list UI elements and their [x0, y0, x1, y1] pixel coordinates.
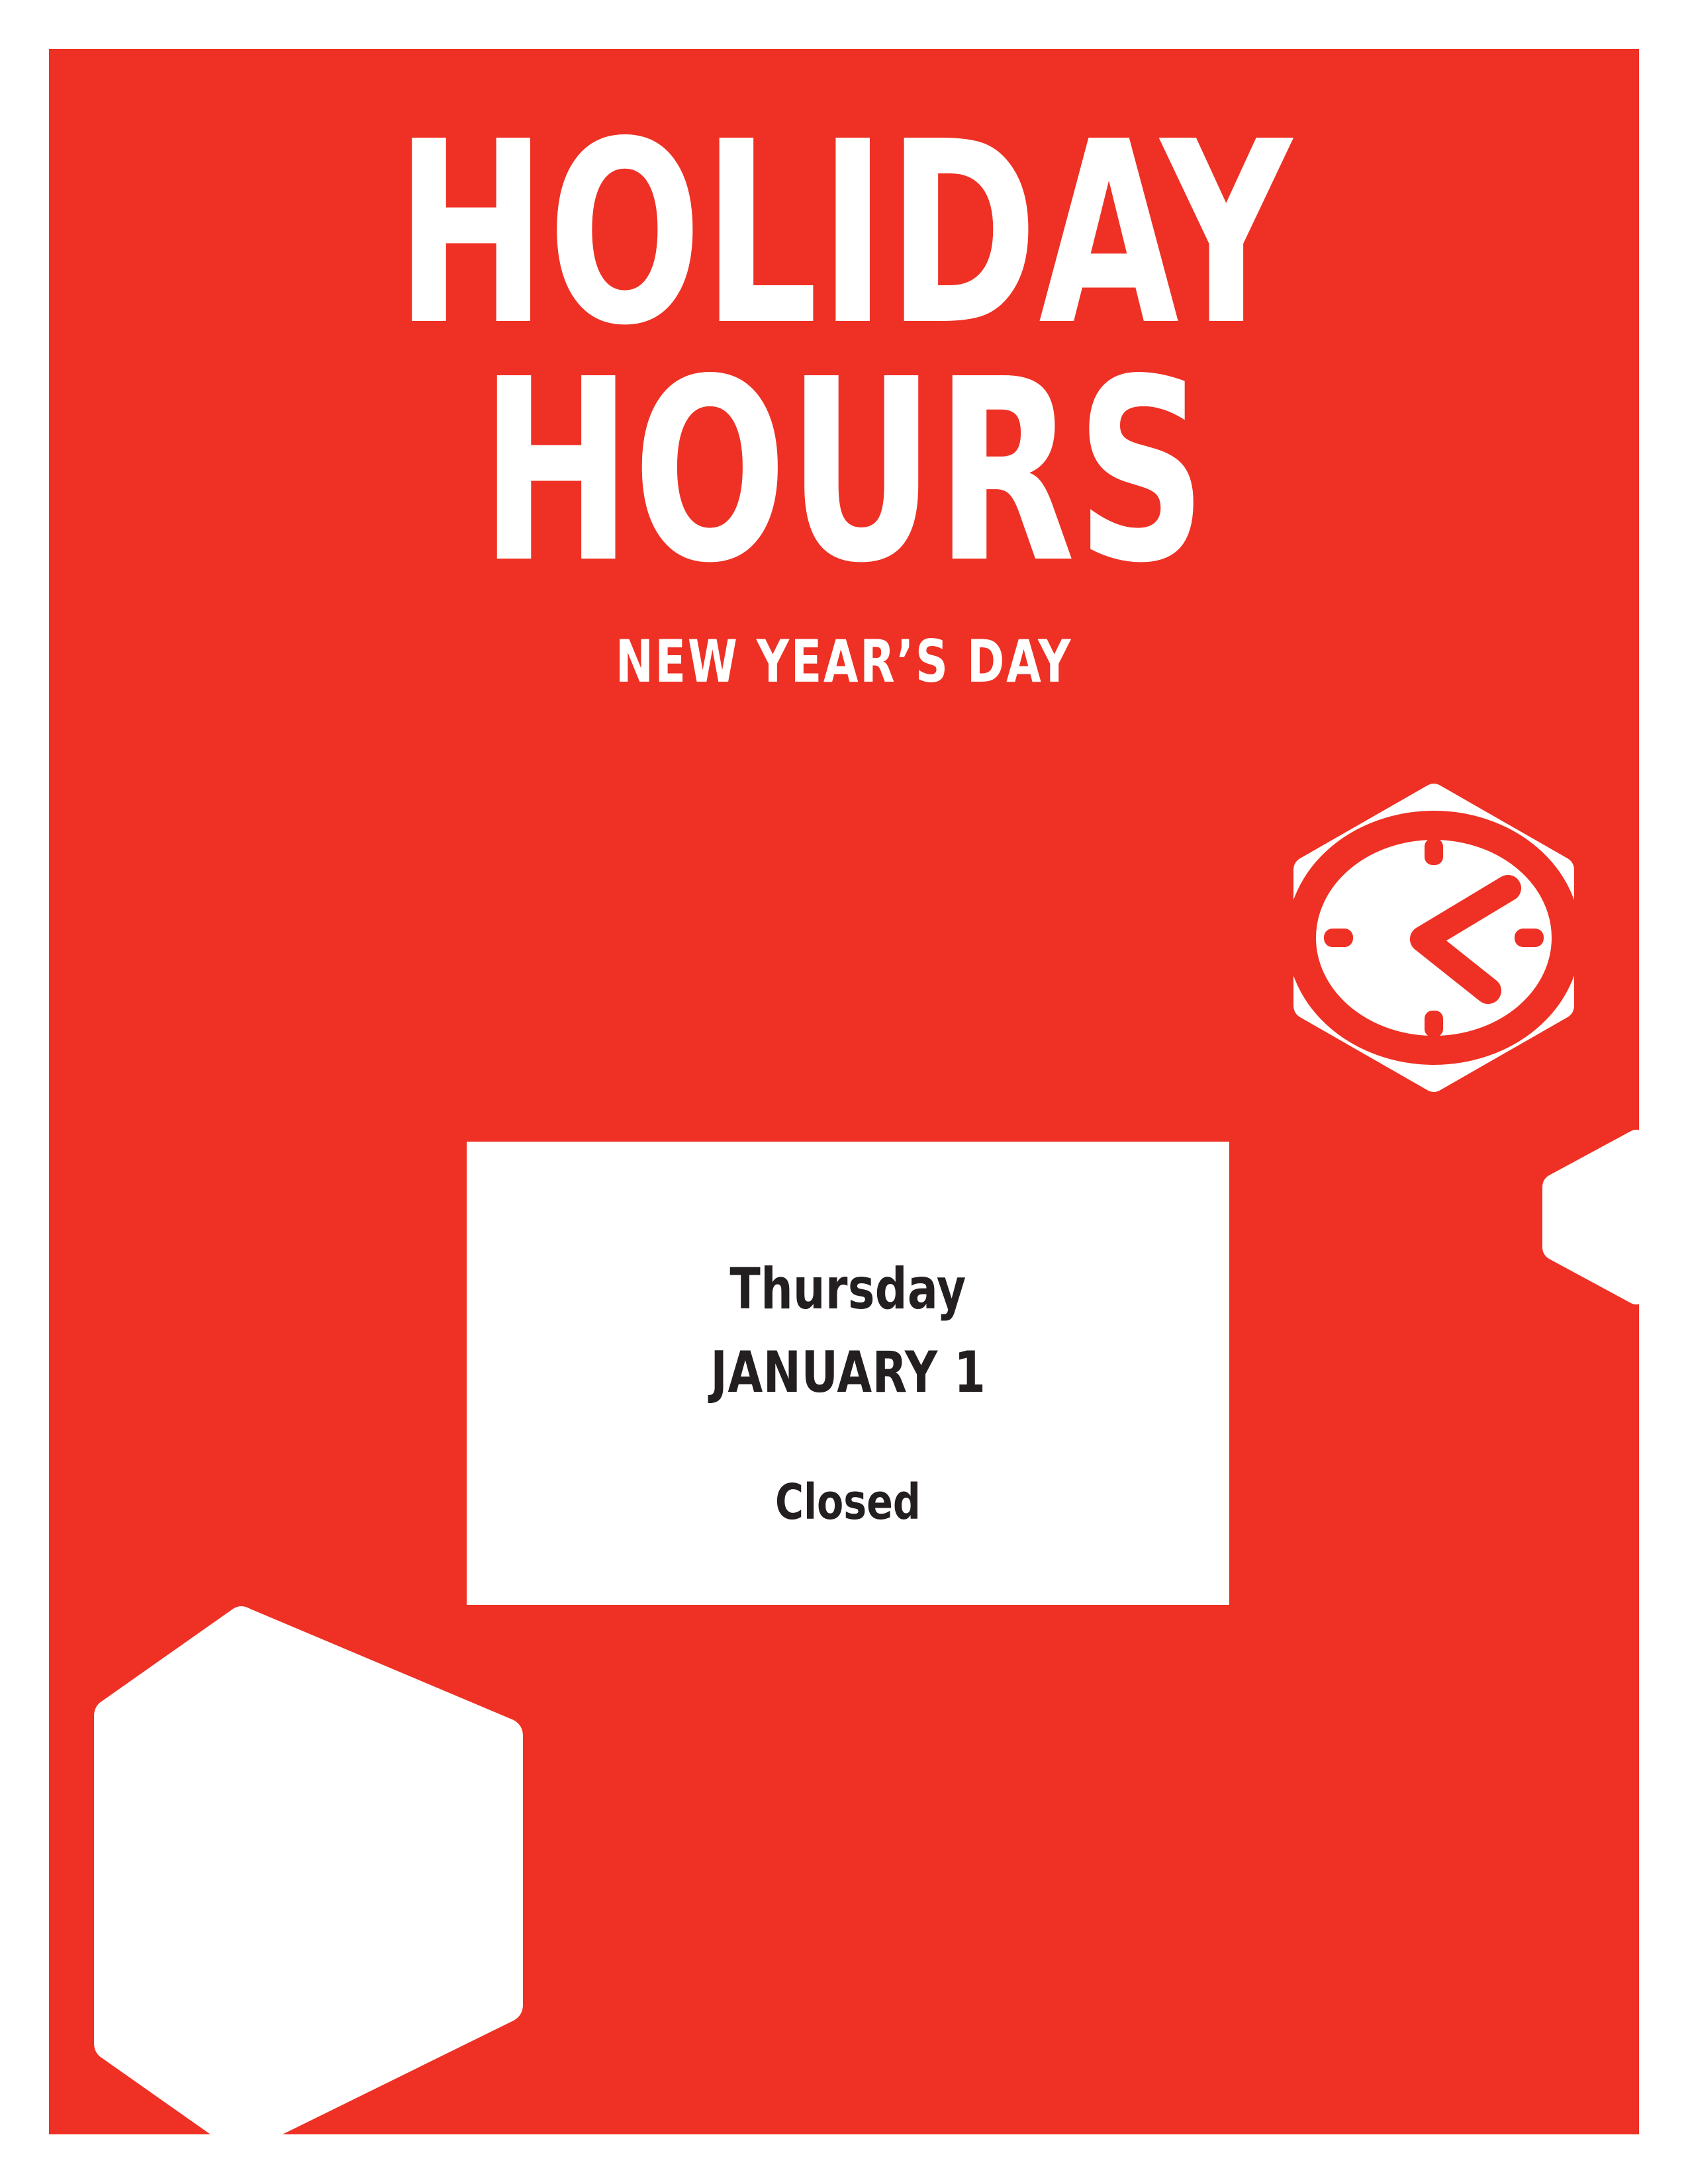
clock-icon	[1301, 825, 1566, 1050]
holiday-info-card: Thursday JANUARY 1 Closed	[467, 1142, 1229, 1605]
poster-header: HOLIDAY HOURS NEW YEAR’S DAY	[49, 115, 1639, 696]
card-day-label: Thursday	[729, 1261, 966, 1318]
large-hexagon-decoration	[49, 1555, 552, 2134]
page-subtitle: NEW YEAR’S DAY	[160, 627, 1528, 696]
clock-hexagon-badge	[1248, 766, 1619, 1110]
holiday-hours-poster: HOLIDAY HOURS NEW YEAR’S DAY	[0, 0, 1688, 2184]
card-status-label: Closed	[775, 1478, 921, 1527]
poster-background-panel: HOLIDAY HOURS NEW YEAR’S DAY	[49, 49, 1639, 2134]
card-date-label: JANUARY 1	[710, 1344, 986, 1401]
page-title-line-2: HOURS	[208, 353, 1480, 590]
small-hexagon-decoration	[1536, 1128, 1639, 1306]
page-title-line-1: HOLIDAY	[208, 115, 1480, 353]
